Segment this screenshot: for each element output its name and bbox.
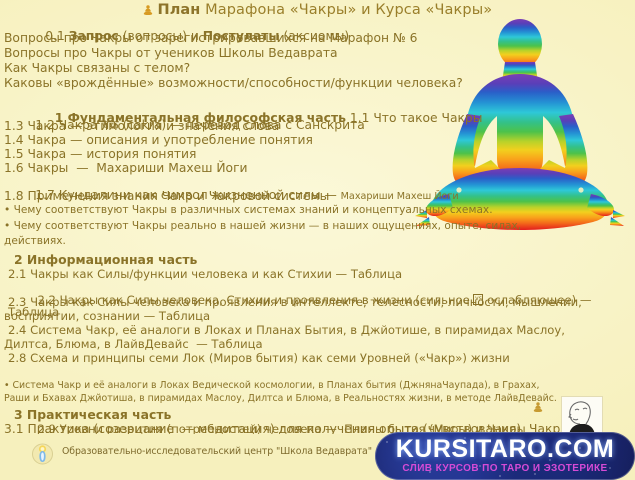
section-2-bullet-b-row: Раши и Бхавах Джйотиша, в пирамидах Масл… <box>0 394 635 404</box>
section-2-heading-row: 2 Информационная часть <box>0 254 635 267</box>
meditation-figure-icon <box>143 5 153 16</box>
page-title: План Марафона «Чакры» и Курса «Чакры» <box>0 2 635 18</box>
section-2-item-24a-row: 2.4 Система Чакр, её аналоги в Локах и П… <box>0 324 635 336</box>
watermark-subtitle: СЛИВ КУРСОВ ПО ТАРО И ЭЗОТЕРИКЕ <box>375 463 635 474</box>
section-2-item-23b-row: восприятии, сознании — Таблица <box>0 310 635 322</box>
section-1-bullet-2-row: • Чему соответствуют Чакры реально в наш… <box>0 221 635 232</box>
section-0-line-4-row: Каковы «врождённые» возможности/способно… <box>0 77 635 90</box>
section-2-item-23a-row: 2.3 Чакры как Силы человека и проявления… <box>0 296 635 308</box>
profile-sketch-icon <box>561 396 603 436</box>
section-1-bullet-1-row: • Чему соответствуют Чакры в различных с… <box>0 205 635 216</box>
section-1-item-16: 1.6 Чакры — Махариши Махеш Йоги <box>0 162 635 175</box>
section-0-line-1: Вопросы про Чакры от зарегистрировавшихс… <box>0 32 635 45</box>
section-0-line-3-row: Как Чакры связаны с телом? <box>0 62 635 75</box>
section-1-bullet-1: • Чему соответствуют Чакры в различных с… <box>0 205 635 216</box>
footer-text: Образовательно-исследовательский центр "… <box>62 446 372 457</box>
section-1-item-14: 1.4 Чакра — описания и употребление поня… <box>0 134 635 147</box>
section-2-item-21-row: 2.1 Чакры как Силы/функции человека и ка… <box>0 268 635 280</box>
section-0-line-3: Как Чакры связаны с телом? <box>0 62 635 75</box>
section-0-line-1-row: Вопросы про Чакры от зарегистрировавшихс… <box>0 32 635 45</box>
section-1-bullet-3: действиях. <box>0 236 635 247</box>
section-1-item-13: 1.3 Чакра — этимология и значения слова <box>0 120 635 133</box>
section-3-heading: 3 Практическая часть <box>0 409 635 422</box>
section-1-item-18-row: 1.8 Применения знания Чакр и Чакровой си… <box>0 190 635 203</box>
watermark-badge: KURSITARO.COM СЛИВ КУРСОВ ПО ТАРО И ЭЗОТ… <box>375 432 635 480</box>
section-1-bullet-3-row: действиях. <box>0 236 635 247</box>
section-2-item-24a: 2.4 Система Чакр, её аналоги в Локах и П… <box>0 324 635 336</box>
section-2-item-24b-row: Дилтса, Блюма, в ЛайвДевайс — Таблица <box>0 338 635 350</box>
section-1-bullet-2: • Чему соответствуют Чакры реально в наш… <box>0 221 635 232</box>
section-2-bullet-a-row: • Система Чакр и её аналоги в Локах Веди… <box>0 381 635 391</box>
section-1-item-16-row: 1.6 Чакры — Махариши Махеш Йоги <box>0 162 635 175</box>
section-2-item-28-row: 2.8 Схема и принципы семи Лок (Миров быт… <box>0 352 635 364</box>
school-logo-icon <box>32 442 53 466</box>
section-1-item-13-row: 1.3 Чакра — этимология и значения слова <box>0 120 635 133</box>
section-2-bullet-a: • Система Чакр и её аналоги в Локах Веди… <box>0 381 635 391</box>
section-2-item-23b: восприятии, сознании — Таблица <box>0 310 635 322</box>
section-3-heading-row: 3 Практическая часть <box>0 409 635 422</box>
section-2-item-24b: Дилтса, Блюма, в ЛайвДевайс — Таблица <box>0 338 635 350</box>
section-1-item-14-row: 1.4 Чакра — описания и употребление поня… <box>0 134 635 147</box>
section-0-line-4: Каковы «врождённые» возможности/способно… <box>0 77 635 90</box>
section-2-item-21: 2.1 Чакры как Силы/функции человека и ка… <box>0 268 635 280</box>
section-2-item-28: 2.8 Схема и принципы семи Лок (Миров быт… <box>0 352 635 364</box>
slide-root: План Марафона «Чакры» и Курса «Чакры» 0.… <box>0 0 635 480</box>
section-1-item-18: 1.8 Применения знания Чакр и Чакровой си… <box>0 190 635 203</box>
section-1-item-15-row: 1.5 Чакра — история понятия <box>0 148 635 161</box>
section-0-line-2-row: Вопросы про Чакры от учеников Школы Веда… <box>0 47 635 60</box>
title-rest: Марафона «Чакры» и Курса «Чакры» <box>200 2 492 18</box>
section-2-heading: 2 Информационная часть <box>0 254 635 267</box>
title-bold: План <box>157 2 200 18</box>
section-2-bullet-b: Раши и Бхавах Джйотиша, в пирамидах Масл… <box>0 394 635 404</box>
section-0-line-2: Вопросы про Чакры от учеников Школы Веда… <box>0 47 635 60</box>
section-1-item-15: 1.5 Чакра — история понятия <box>0 148 635 161</box>
watermark-title: KURSITARO.COM <box>375 435 635 464</box>
section-2-item-23a: 2.3 Чакры как Силы человека и проявления… <box>0 296 635 308</box>
